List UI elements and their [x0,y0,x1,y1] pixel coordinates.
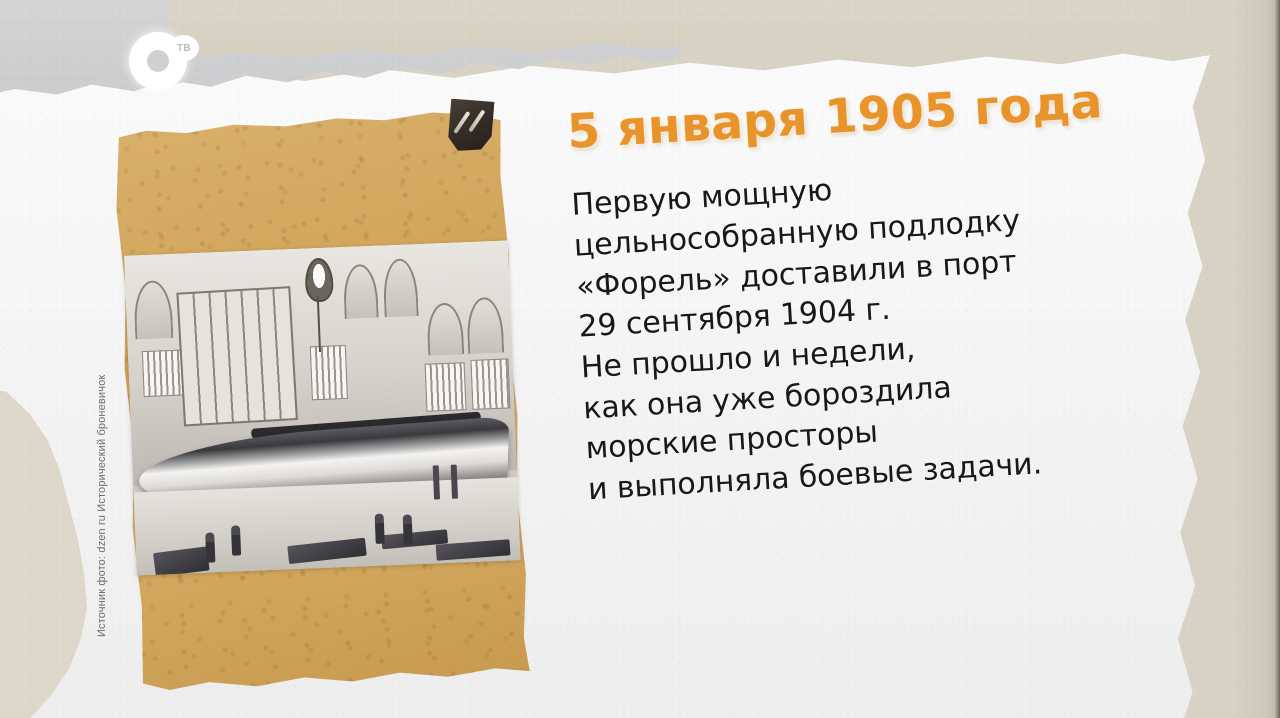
logo-tv-badge: ТВ [169,35,199,61]
photo-source-credit: Источник фото: dzen ru Исторический брон… [96,247,108,637]
slide-canvas: ТВ Источник фото: dzen ru Исторический б… [0,0,1280,718]
photo-crane-hook [304,257,334,302]
archive-photo-image [124,240,521,575]
body-text: Первую мощную цельнособранную подлодку «… [571,148,1249,511]
photo-crane-cable [317,296,321,352]
photo-worker [403,514,413,544]
photo-card [106,107,535,698]
frame-edge-right [1275,0,1280,718]
archive-photo [124,240,521,575]
logo-ring-hole [147,50,169,72]
photo-window [310,345,348,400]
badge-stroke [453,111,470,134]
photo-worker [375,514,385,544]
photo-window [425,362,467,412]
photo-worker [205,532,215,562]
photo-worker [231,525,241,555]
otv-logo: ТВ [129,32,201,90]
photo-window [470,358,510,409]
badge-stroke [468,109,485,132]
photo-crane [296,253,340,347]
text-column: 5 января 1905 года Первую мощную цельнос… [566,70,1248,511]
photo-factory-gate [176,286,298,426]
